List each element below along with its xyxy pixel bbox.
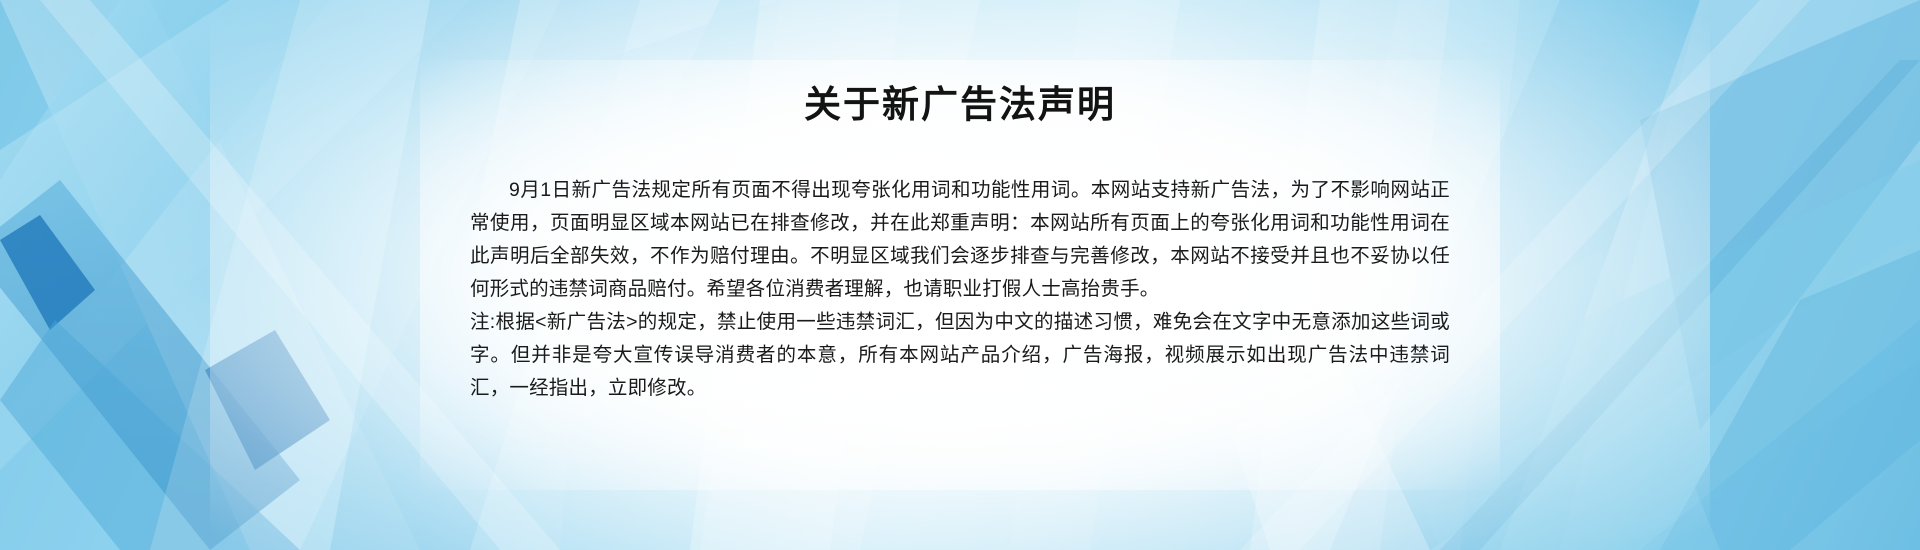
page-title: 关于新广告法声明 xyxy=(470,84,1450,127)
statement-content: 关于新广告法声明 9月1日新广告法规定所有页面不得出现夸张化用词和功能性用词。本… xyxy=(470,0,1450,550)
statement-paragraph-main: 9月1日新广告法规定所有页面不得出现夸张化用词和功能性用词。本网站支持新广告法，… xyxy=(470,174,1450,306)
advertising-law-statement-banner: 关于新广告法声明 9月1日新广告法规定所有页面不得出现夸张化用词和功能性用词。本… xyxy=(0,0,1920,550)
statement-body: 9月1日新广告法规定所有页面不得出现夸张化用词和功能性用词。本网站支持新广告法，… xyxy=(470,174,1450,405)
statement-paragraph-note: 注:根据<新广告法>的规定，禁止使用一些违禁词汇，但因为中文的描述习惯，难免会在… xyxy=(470,306,1450,405)
